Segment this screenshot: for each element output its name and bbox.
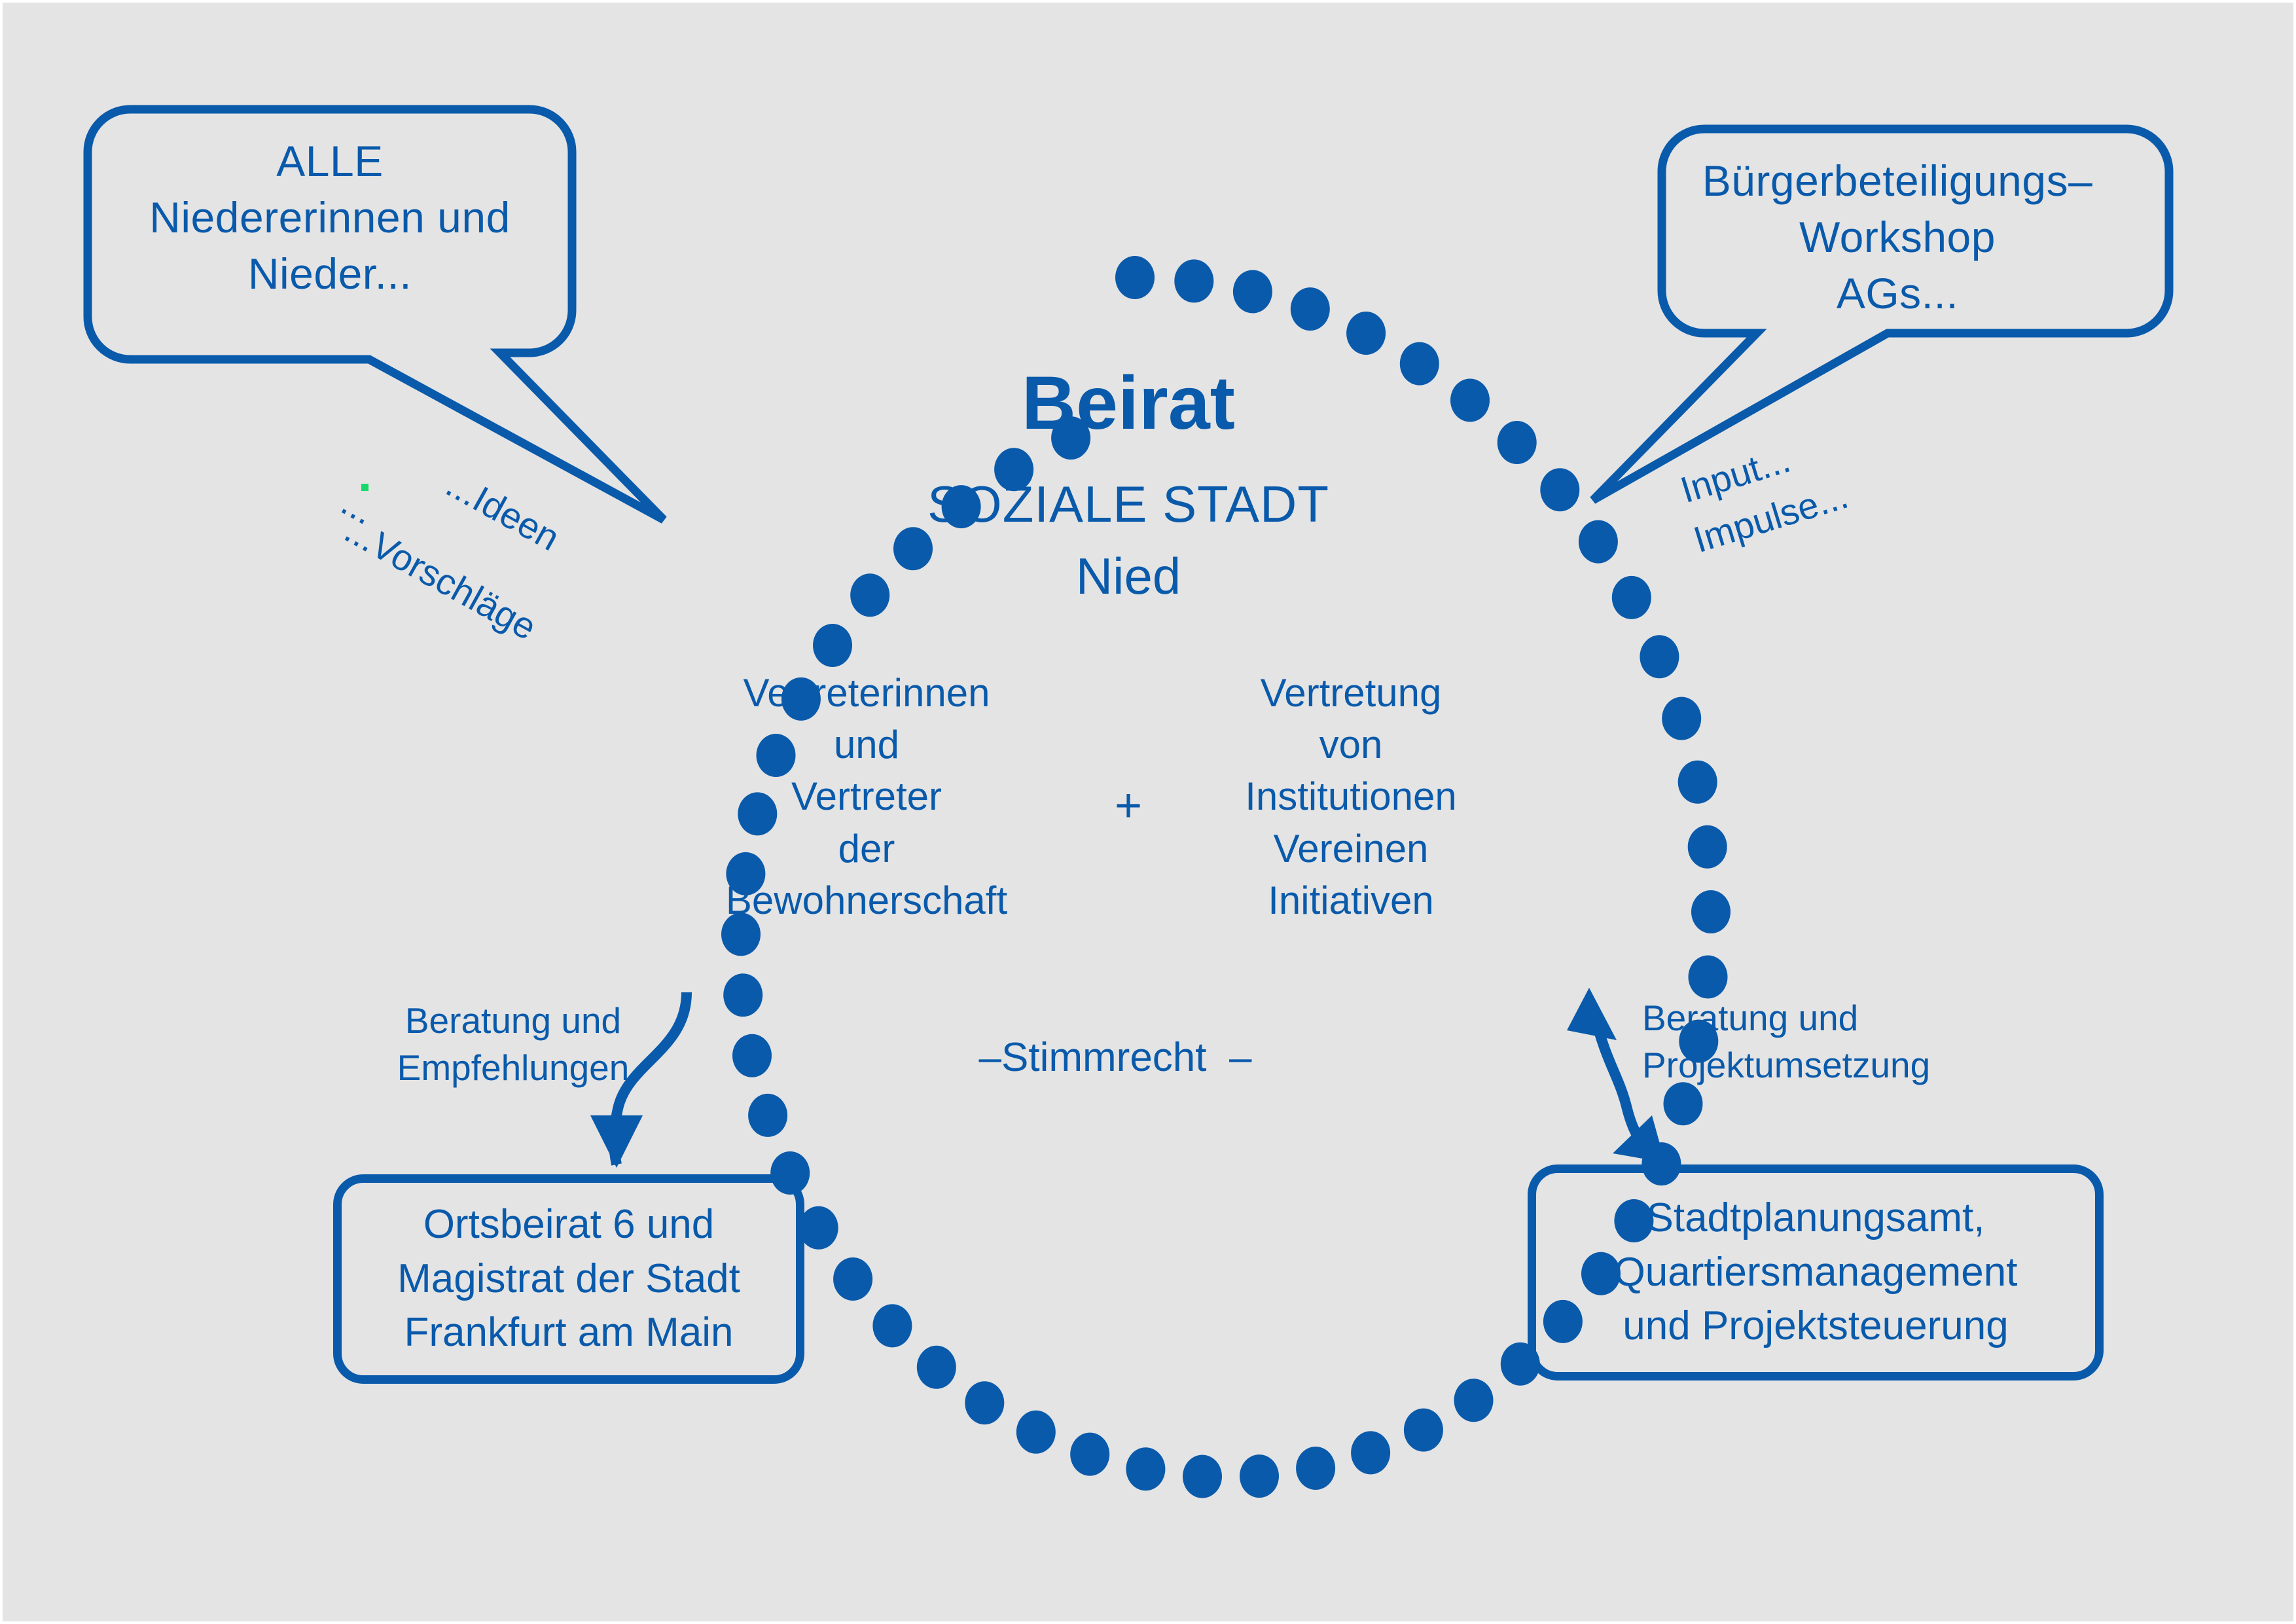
plus-icon: + — [1089, 778, 1168, 834]
label-ideen: ...Ideen — [438, 461, 567, 561]
box-ortsbeirat-magistrat-text: Ortsbeirat 6 und Magistrat der Stadt Fra… — [397, 1198, 740, 1360]
speech-bubble-left-text: ALLE Niedererinnen und Nieder... — [101, 134, 559, 302]
stray-green-pixel — [361, 484, 368, 491]
bubble-left-line1: ALLE Niedererinnen und Nieder... — [101, 134, 559, 302]
box-stadtplanungsamt-text: Stadtplanungsamt, Quartiersmanagement un… — [1614, 1191, 2018, 1353]
subtitle-soziale-stadt: SOZIALE STADT — [847, 474, 1410, 534]
box-ortsbeirat-magistrat[interactable]: Ortsbeirat 6 und Magistrat der Stadt Fra… — [333, 1174, 804, 1384]
label-beratung-empfehlungen: Beratung und Empfehlungen — [376, 998, 651, 1091]
speech-bubble-right-text: Bürgerbeteiligungs– Workshop AGs... — [1668, 153, 2126, 321]
voting-rights-note: –Stimmrecht – — [925, 1034, 1305, 1081]
subtitle-nied: Nied — [847, 546, 1410, 606]
members-residents-column: Vertreterinnen und Vertreter der Bewohne… — [693, 667, 1040, 926]
diagram-canvas: ALLE Niedererinnen und Nieder... Bürgerb… — [0, 0, 2296, 1624]
members-institutions-column: Vertretung von Institutionen Vereinen In… — [1210, 667, 1492, 926]
page-title: Beirat — [847, 359, 1410, 448]
label-beratung-projektumsetzung: Beratung und Projektumsetzung — [1642, 995, 1956, 1089]
bubble-right-line1: Bürgerbeteiligungs– Workshop AGs... — [1668, 153, 2126, 321]
box-stadtplanungsamt[interactable]: Stadtplanungsamt, Quartiersmanagement un… — [1528, 1164, 2104, 1380]
